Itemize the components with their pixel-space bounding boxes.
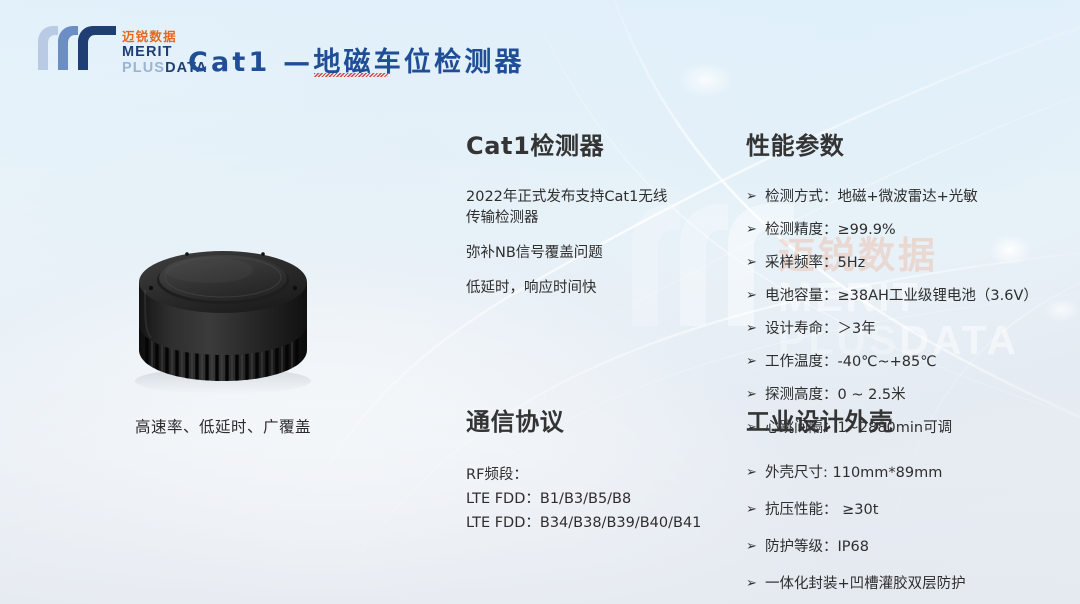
slide-header: 迈锐数据 MERIT PLUSDATA Cat1 —地磁车位检测器: [0, 0, 1080, 104]
detector-paragraph: 2022年正式发布支持Cat1无线传输检测器: [466, 187, 676, 229]
enclosure-spec-item: ➢一体化封装+凹槽灌胶双层防护: [746, 574, 966, 594]
performance-spec-item: ➢采样频率：5Hz: [746, 253, 1038, 273]
enclosure-spec-item: ➢防护等级：IP68: [746, 537, 966, 557]
product-caption: 高速率、低延时、广覆盖: [98, 415, 348, 437]
performance-spec-text: 工作温度：-40℃~+85℃: [765, 354, 937, 370]
enclosure-spec-text: 抗压性能： ≥30t: [765, 502, 878, 518]
performance-spec-item: ➢检测方式：地磁+微波雷达+光敏: [746, 187, 1038, 207]
performance-spec-text: 采样频率：5Hz: [765, 255, 865, 271]
protocol-line: LTE FDD：B34/B38/B39/B40/B41: [466, 511, 701, 535]
performance-spec-item: ➢设计寿命：＞3年: [746, 319, 1038, 339]
enclosure-spec-item: ➢外壳尺寸: 110mm*89mm: [746, 463, 966, 483]
arrow-bullet-icon: ➢: [746, 220, 757, 240]
arrow-bullet-icon: ➢: [746, 286, 757, 306]
performance-spec-text: 设计寿命：＞3年: [765, 321, 876, 337]
arrow-bullet-icon: ➢: [746, 500, 757, 520]
protocol-line: LTE FDD：B1/B3/B5/B8: [466, 487, 701, 511]
section-protocol: 通信协议 RF频段： LTE FDD：B1/B3/B5/B8 LTE FDD：B…: [466, 402, 701, 535]
section-enclosure: 工业设计外壳 ➢外壳尺寸: 110mm*89mm ➢抗压性能： ≥30t ➢防护…: [746, 402, 966, 604]
slide-canvas: 迈锐数据 MERIT PLUSDATA 迈锐数据 MERIT PLUSDATA …: [0, 0, 1080, 604]
arrow-bullet-icon: ➢: [746, 253, 757, 273]
enclosure-spec-text: 防护等级：IP68: [765, 539, 869, 555]
detector-paragraph: 弥补NB信号覆盖问题: [466, 243, 676, 264]
brand-plus: PLUS: [122, 60, 165, 76]
merit-arches-icon: [36, 24, 120, 72]
arrow-bullet-icon: ➢: [746, 537, 757, 557]
brand-logo[interactable]: 迈锐数据 MERIT PLUSDATA: [36, 24, 196, 84]
section-performance-heading: 性能参数: [746, 126, 1038, 161]
enclosure-spec-text: 外壳尺寸: 110mm*89mm: [765, 465, 942, 481]
arrow-bullet-icon: ➢: [746, 352, 757, 372]
performance-spec-item: ➢电池容量：≥38AH工业级锂电池（3.6V）: [746, 286, 1038, 306]
enclosure-spec-text: 一体化封装+凹槽灌胶双层防护: [765, 576, 966, 592]
performance-spec-text: 探测高度：0 ~ 2.5米: [765, 387, 906, 403]
detector-paragraph: 低延时，响应时间快: [466, 278, 676, 299]
performance-spec-list: ➢检测方式：地磁+微波雷达+光敏 ➢检测精度：≥99.9% ➢采样频率：5Hz …: [746, 187, 1038, 438]
product-image-cat1-sensor: [123, 238, 323, 393]
section-detector: Cat1检测器 2022年正式发布支持Cat1无线传输检测器 弥补NB信号覆盖问…: [466, 126, 676, 313]
performance-spec-item: ➢工作温度：-40℃~+85℃: [746, 352, 1038, 372]
arrow-bullet-icon: ➢: [746, 463, 757, 483]
section-detector-heading: Cat1检测器: [466, 126, 676, 161]
protocol-line: RF频段：: [466, 463, 701, 487]
product-figure: 高速率、低延时、广覆盖: [98, 238, 348, 437]
enclosure-spec-list: ➢外壳尺寸: 110mm*89mm ➢抗压性能： ≥30t ➢防护等级：IP68…: [746, 463, 966, 594]
performance-spec-text: 电池容量：≥38AH工业级锂电池（3.6V）: [765, 288, 1038, 304]
arrow-bullet-icon: ➢: [746, 574, 757, 594]
section-protocol-heading: 通信协议: [466, 402, 701, 437]
protocol-line-list: RF频段： LTE FDD：B1/B3/B5/B8 LTE FDD：B34/B3…: [466, 463, 701, 535]
performance-spec-text: 检测精度：≥99.9%: [765, 222, 896, 238]
performance-spec-text: 检测方式：地磁+微波雷达+光敏: [765, 189, 978, 205]
section-detector-paragraphs: 2022年正式发布支持Cat1无线传输检测器 弥补NB信号覆盖问题 低延时，响应…: [466, 187, 676, 299]
spellcheck-underline: [314, 73, 388, 77]
arrow-bullet-icon: ➢: [746, 187, 757, 207]
arrow-bullet-icon: ➢: [746, 319, 757, 339]
performance-spec-item: ➢检测精度：≥99.9%: [746, 220, 1038, 240]
section-enclosure-heading: 工业设计外壳: [746, 402, 966, 437]
enclosure-spec-item: ➢抗压性能： ≥30t: [746, 500, 966, 520]
